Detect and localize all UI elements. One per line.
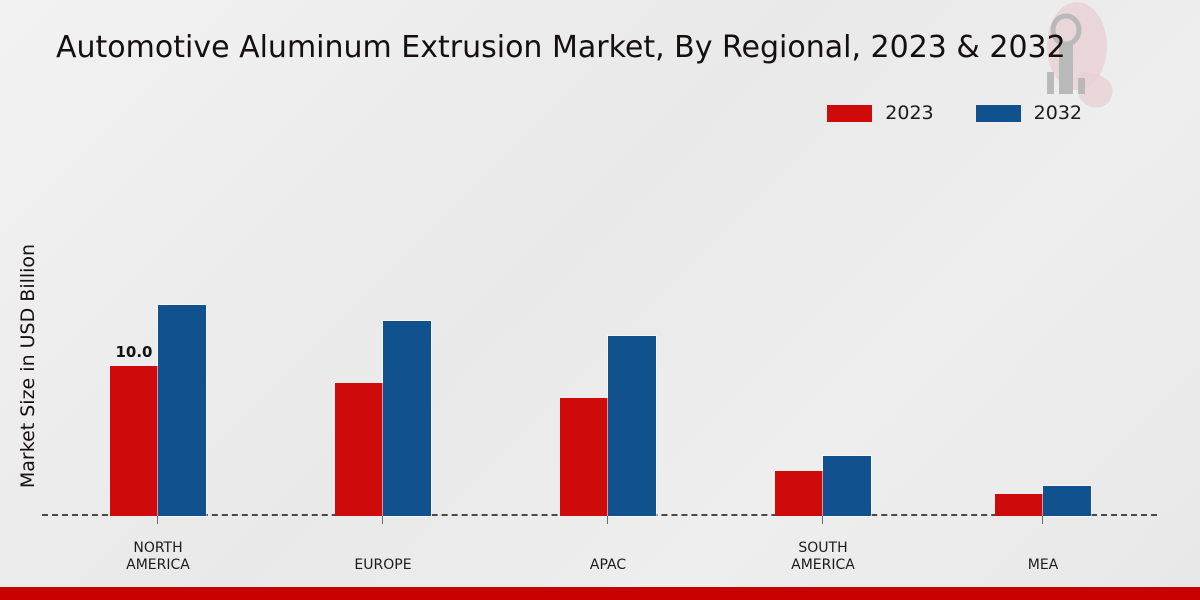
legend-swatch-2023	[827, 105, 872, 122]
x-axis-tick	[157, 516, 158, 524]
x-axis-tick	[607, 516, 608, 524]
x-axis-label: APAC	[514, 557, 702, 574]
x-axis-label: NORTHAMERICA	[64, 540, 252, 574]
bar-2032-south-america[interactable]	[823, 456, 871, 516]
chart-title: Automotive Aluminum Extrusion Market, By…	[56, 30, 1066, 65]
bar-2032-apac[interactable]	[608, 336, 656, 516]
bar-2032-europe[interactable]	[383, 321, 431, 516]
x-axis-label: SOUTHAMERICA	[729, 540, 917, 574]
legend-label-2023: 2023	[885, 104, 933, 123]
x-axis-label: EUROPE	[289, 557, 477, 574]
plot-area: 10.0NORTHAMERICAEUROPEAPACSOUTHAMERICAME…	[42, 150, 1157, 516]
bottom-accent-strip	[0, 587, 1200, 600]
legend-swatch-2032	[976, 105, 1021, 122]
bar-2023-mea[interactable]	[995, 494, 1043, 517]
bar-2023-south-america[interactable]	[775, 471, 823, 516]
bar-2023-apac[interactable]	[560, 398, 608, 517]
bar-2032-mea[interactable]	[1043, 486, 1091, 516]
bar-2023-north-america[interactable]	[110, 366, 158, 516]
x-axis-tick	[822, 516, 823, 524]
legend-item-2032[interactable]: 2032	[976, 104, 1082, 123]
legend-item-2023[interactable]: 2023	[827, 104, 933, 123]
bar-2032-north-america[interactable]	[158, 305, 206, 517]
y-axis-title: Market Size in USD Billion	[17, 186, 39, 546]
x-axis-tick	[1042, 516, 1043, 524]
chart-container: Automotive Aluminum Extrusion Market, By…	[0, 0, 1200, 600]
bar-value-label: 10.0	[110, 343, 158, 361]
chart-legend: 2023 2032	[827, 104, 1082, 123]
x-axis-tick	[382, 516, 383, 524]
x-axis-label: MEA	[949, 557, 1137, 574]
legend-label-2032: 2032	[1034, 104, 1082, 123]
bar-2023-europe[interactable]	[335, 383, 383, 517]
